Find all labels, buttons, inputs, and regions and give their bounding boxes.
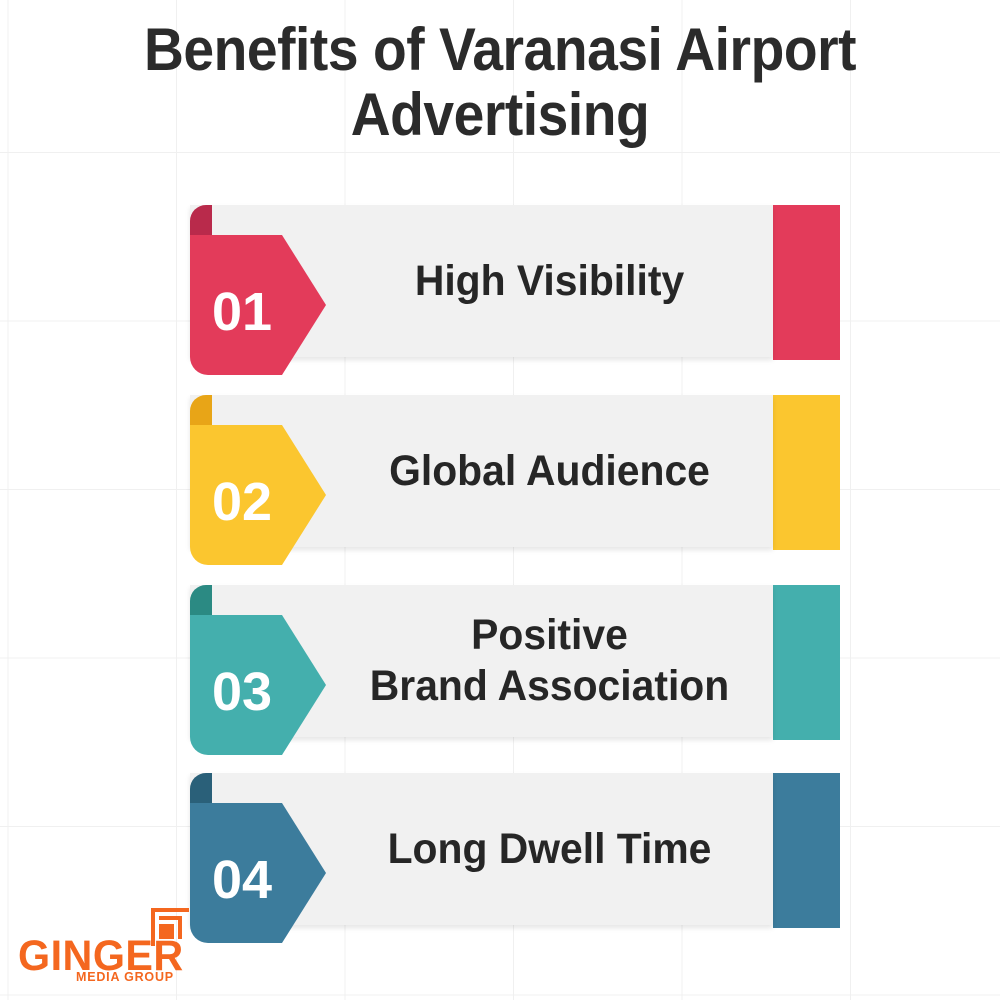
logo-tagline: MEDIA GROUP [76, 970, 174, 984]
accent-bar-3 [773, 585, 840, 740]
benefit-number-3: 03 [190, 615, 294, 755]
benefit-label-4: Long Dwell Time [337, 773, 762, 925]
benefit-number-2: 02 [190, 425, 294, 565]
number-badge-3: 03 [190, 615, 326, 755]
ginger-media-group-logo: GINGER MEDIA GROUP [18, 906, 218, 982]
benefit-number-1: 01 [190, 235, 294, 375]
benefit-label-1: High Visibility [337, 205, 762, 357]
accent-bar-2 [773, 395, 840, 550]
benefit-label-3: Positive Brand Association [337, 585, 762, 737]
infographic-canvas: Benefits of Varanasi Airport Advertising… [0, 0, 1000, 1000]
benefit-row-1: 01 High Visibility [0, 190, 1000, 380]
accent-bar-1 [773, 205, 840, 360]
benefit-row-2: 02 Global Audience [0, 380, 1000, 570]
accent-bar-4 [773, 773, 840, 928]
benefit-row-3: 03 Positive Brand Association [0, 570, 1000, 760]
number-badge-2: 02 [190, 425, 326, 565]
nested-corner-brackets-icon [149, 906, 191, 948]
number-badge-1: 01 [190, 235, 326, 375]
page-title: Benefits of Varanasi Airport Advertising [40, 18, 960, 148]
benefit-label-2: Global Audience [337, 395, 762, 547]
